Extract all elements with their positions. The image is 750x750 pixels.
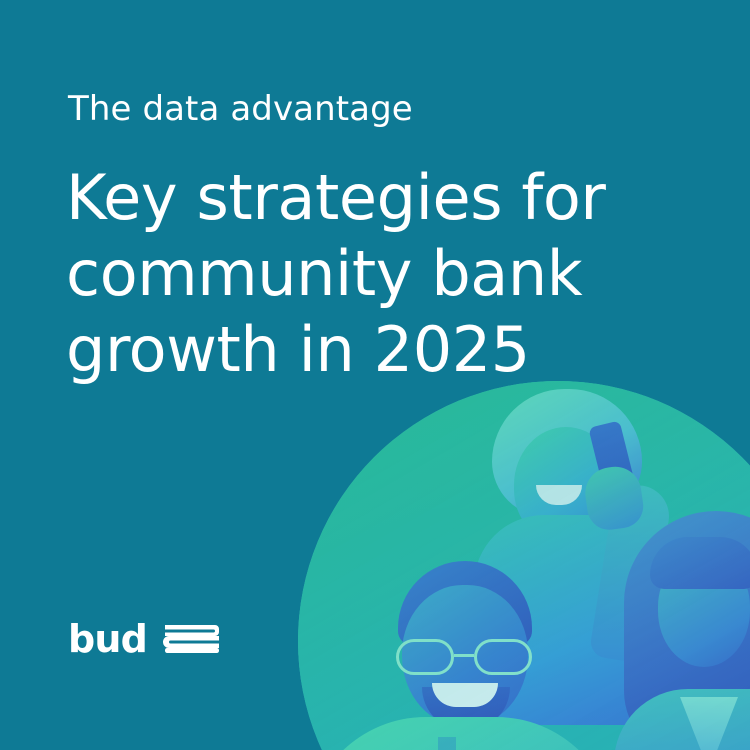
glasses-bridge	[454, 654, 474, 657]
headline-line-2: community bank	[66, 236, 626, 312]
medallion-image	[298, 381, 750, 750]
person-man-with-glasses	[306, 561, 616, 750]
headline-line-3: growth in 2025	[66, 312, 626, 388]
page-title: Key strategies for community bank growth…	[66, 160, 626, 388]
person-woman-looking-down	[614, 511, 750, 750]
glasses-icon	[390, 639, 542, 675]
headline-line-1: Key strategies for	[66, 160, 626, 236]
glasses-lens-right	[474, 639, 532, 675]
fringe	[650, 537, 750, 589]
shirt-placket	[438, 737, 456, 750]
shirt	[306, 717, 616, 750]
eyebrow-text: The data advantage	[68, 88, 413, 130]
bud-bars-mark-icon	[163, 623, 221, 655]
logo-wordmark: bud	[68, 620, 147, 658]
promo-card: The data advantage Key strategies for co…	[0, 0, 750, 750]
brand-logo[interactable]: bud	[68, 620, 221, 658]
glasses-lens-left	[396, 639, 454, 675]
